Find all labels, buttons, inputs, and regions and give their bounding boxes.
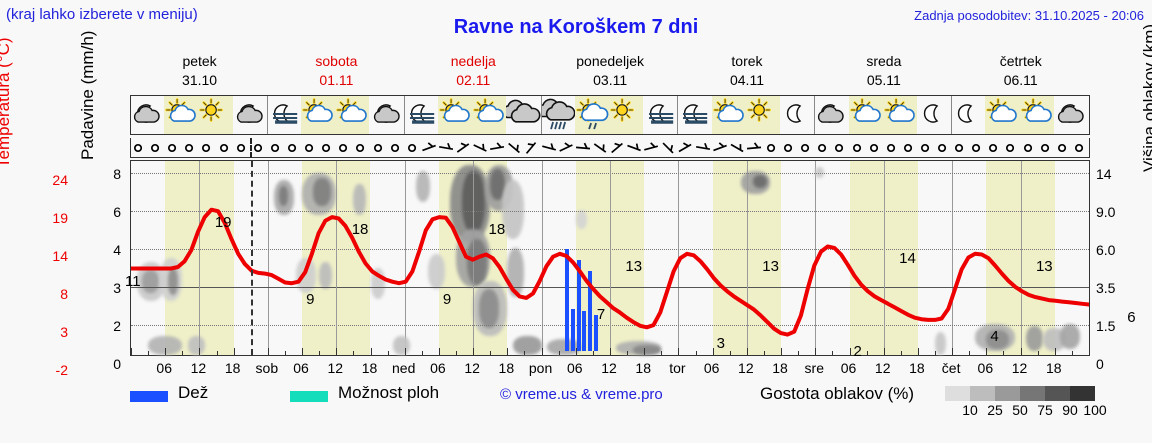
cloud-density-legend-title: Gostota oblakov (%) bbox=[760, 384, 914, 404]
calm-wind-circle bbox=[797, 138, 814, 158]
temperature-tick: 19 bbox=[36, 210, 68, 226]
showers-legend-swatch bbox=[290, 391, 328, 402]
cloud-height-tick: 3.5 bbox=[1096, 280, 1136, 296]
cloud-height-tick: 0 bbox=[1096, 356, 1136, 372]
day-header-2: sobota01.11 bbox=[268, 52, 405, 90]
cloud-density-tick-labels: 1025507590100 bbox=[935, 402, 1115, 420]
weather-icon-sun-cloud bbox=[712, 95, 746, 135]
calm-wind-circle bbox=[335, 138, 352, 158]
calm-wind-circle bbox=[849, 138, 866, 158]
temperature-tick: -2 bbox=[36, 362, 68, 378]
day-header-5: torek04.11 bbox=[678, 52, 815, 90]
x-axis-tick-labels: 061218sob061218ned061218pon061218tor0612… bbox=[130, 360, 1090, 380]
wind-barb-symbol bbox=[729, 138, 746, 158]
calm-wind-circle bbox=[814, 138, 831, 158]
calm-wind-circle bbox=[198, 138, 215, 158]
cloud-height-tick-labels: 149.06.03.51.50 bbox=[1096, 160, 1142, 370]
day-header-1: petek31.10 bbox=[131, 52, 268, 90]
temperature-tick-labels: 24191483-2 bbox=[36, 160, 76, 370]
calm-wind-circle bbox=[250, 138, 267, 158]
calm-wind-circle bbox=[883, 138, 900, 158]
copyright-label: © vreme.us & vreme.pro bbox=[500, 386, 663, 403]
calm-wind-circle bbox=[968, 138, 985, 158]
wind-barb-symbol bbox=[643, 138, 660, 158]
weather-icon-row bbox=[130, 95, 1090, 135]
weather-icon-sun-cloud bbox=[849, 95, 883, 135]
day-header-4: ponedeljek03.11 bbox=[542, 52, 679, 90]
calm-wind-circle bbox=[1037, 138, 1054, 158]
cloud-density-colorbar bbox=[945, 386, 1095, 401]
showers-legend-label: Možnost ploh bbox=[338, 383, 439, 403]
wind-barb-symbol bbox=[746, 138, 763, 158]
day-separator bbox=[677, 95, 678, 135]
weather-icon-sun-cloud bbox=[472, 95, 506, 135]
wind-barb-symbol bbox=[660, 138, 677, 158]
weather-icon-cloud bbox=[506, 95, 540, 135]
weather-icon-sun-cloud bbox=[335, 95, 369, 135]
temperature-axis-title: Temperatura (°C) bbox=[0, 0, 14, 168]
weather-icon-sun-cloud bbox=[883, 95, 917, 135]
x-tick-label: 18 bbox=[1034, 360, 1074, 376]
wind-barb-symbol bbox=[626, 138, 643, 158]
calm-wind-circle bbox=[900, 138, 917, 158]
calm-wind-circle bbox=[831, 138, 848, 158]
cloud-density-swatch bbox=[945, 386, 970, 401]
precipitation-tick: 8 bbox=[103, 166, 121, 182]
precipitation-tick: 6 bbox=[103, 204, 121, 220]
precipitation-tick: 2 bbox=[103, 318, 121, 334]
calm-wind-circle bbox=[181, 138, 198, 158]
current-time-marker bbox=[250, 138, 252, 158]
day-name: ponedeljek bbox=[542, 52, 679, 71]
calm-wind-circle bbox=[1071, 138, 1088, 158]
day-name: torek bbox=[678, 52, 815, 71]
wind-barb-symbol bbox=[592, 138, 609, 158]
precipitation-tick: 0 bbox=[103, 356, 121, 372]
weather-icon-moon bbox=[917, 95, 951, 135]
day-date: 01.11 bbox=[268, 71, 405, 90]
day-name: sobota bbox=[268, 52, 405, 71]
day-date: 31.10 bbox=[131, 71, 268, 90]
last-update-label: Zadnja posodobitev: 31.10.2025 - 20:06 bbox=[914, 8, 1144, 23]
weather-icon-sun bbox=[746, 95, 780, 135]
cloud-density-swatch bbox=[1045, 386, 1070, 401]
calm-wind-circle bbox=[1002, 138, 1019, 158]
calm-wind-circle bbox=[216, 138, 233, 158]
calm-wind-circle bbox=[318, 138, 335, 158]
weather-icon-moon-cloud bbox=[130, 95, 164, 135]
weather-icon-sun-cloud bbox=[985, 95, 1019, 135]
rain-legend-swatch bbox=[130, 391, 168, 402]
forecast-chart[interactable]: 11199189187133132144136 bbox=[130, 160, 1090, 356]
precipitation-tick: 3 bbox=[103, 280, 121, 296]
day-name: sreda bbox=[815, 52, 952, 71]
calm-wind-circle bbox=[370, 138, 387, 158]
calm-wind-circle bbox=[763, 138, 780, 158]
weather-icon-sun-cloud bbox=[1020, 95, 1054, 135]
day-separator bbox=[404, 95, 405, 135]
weather-icon-moon-cloud bbox=[814, 95, 848, 135]
calm-wind-circle bbox=[866, 138, 883, 158]
calm-wind-circle bbox=[267, 138, 284, 158]
wind-barb-symbol bbox=[575, 138, 592, 158]
weather-icon-moon-cloud bbox=[1054, 95, 1088, 135]
weather-icon-moon-wind bbox=[404, 95, 438, 135]
rain-legend-label: Dež bbox=[178, 383, 208, 403]
temperature-label: 6 bbox=[1127, 309, 1135, 326]
day-header-6: sreda05.11 bbox=[815, 52, 952, 90]
cloud-density-swatch bbox=[995, 386, 1020, 401]
calm-wind-circle bbox=[233, 138, 250, 158]
precipitation-tick: 4 bbox=[103, 242, 121, 258]
day-header-3: nedelja02.11 bbox=[405, 52, 542, 90]
day-separator bbox=[267, 95, 268, 135]
cloud-height-tick: 6.0 bbox=[1096, 242, 1136, 258]
wind-barb-symbol bbox=[695, 138, 712, 158]
wind-barb-symbol bbox=[541, 138, 558, 158]
day-name: petek bbox=[131, 52, 268, 71]
weather-icon-moon-wind bbox=[677, 95, 711, 135]
wind-barb-symbol bbox=[677, 138, 694, 158]
day-date: 06.11 bbox=[952, 71, 1089, 90]
day-date: 05.11 bbox=[815, 71, 952, 90]
temperature-tick: 3 bbox=[36, 324, 68, 340]
precipitation-axis-title: Padavine (mm/h) bbox=[78, 0, 98, 160]
day-separator bbox=[541, 95, 542, 135]
weather-icon-sun-cloud bbox=[301, 95, 335, 135]
x-axis-tick bbox=[1089, 348, 1090, 355]
wind-barb-symbol bbox=[506, 138, 523, 158]
weather-icon-moon bbox=[951, 95, 985, 135]
chart-legend: Dež Možnost ploh © vreme.us & vreme.pro … bbox=[130, 386, 1140, 426]
calm-wind-circle bbox=[951, 138, 968, 158]
weather-icon-sun-cloud-rain bbox=[575, 95, 609, 135]
wind-barb-symbol bbox=[523, 138, 540, 158]
calm-wind-circle bbox=[934, 138, 951, 158]
day-date: 02.11 bbox=[405, 71, 542, 90]
day-header-7: četrtek06.11 bbox=[952, 52, 1089, 90]
temperature-tick: 8 bbox=[36, 286, 68, 302]
day-date: 03.11 bbox=[542, 71, 679, 90]
day-name: nedelja bbox=[405, 52, 542, 71]
calm-wind-circle bbox=[985, 138, 1002, 158]
calm-wind-circle bbox=[1020, 138, 1037, 158]
weather-icon-moon-wind bbox=[643, 95, 677, 135]
day-separator bbox=[814, 95, 815, 135]
weather-icon-sun-cloud bbox=[438, 95, 472, 135]
calm-wind-circle bbox=[147, 138, 164, 158]
wind-barb-symbol bbox=[609, 138, 626, 158]
calm-wind-circle bbox=[1054, 138, 1071, 158]
calm-wind-circle bbox=[352, 138, 369, 158]
temperature-tick: 14 bbox=[36, 248, 68, 264]
weather-icon-sun bbox=[609, 95, 643, 135]
precipitation-tick-labels: 864320 bbox=[103, 160, 125, 370]
wind-barb-symbol bbox=[558, 138, 575, 158]
day-name: četrtek bbox=[952, 52, 1089, 71]
cloud-density-tick: 100 bbox=[1080, 402, 1110, 418]
current-time-marker bbox=[131, 161, 1089, 355]
wind-barb-symbol bbox=[421, 138, 438, 158]
calm-wind-circle bbox=[917, 138, 934, 158]
calm-wind-circle bbox=[130, 138, 147, 158]
day-separator bbox=[951, 95, 952, 135]
calm-wind-circle bbox=[387, 138, 404, 158]
day-date: 04.11 bbox=[678, 71, 815, 90]
current-time-marker bbox=[251, 161, 253, 355]
weather-icon-moon-cloud bbox=[233, 95, 267, 135]
weather-icon-sun-cloud bbox=[164, 95, 198, 135]
weather-icon-moon-wind bbox=[267, 95, 301, 135]
cloud-density-swatch bbox=[1020, 386, 1045, 401]
weather-icon-sun bbox=[198, 95, 232, 135]
wind-barb-symbol bbox=[455, 138, 472, 158]
weather-icon-cloud-rain bbox=[541, 95, 575, 135]
calm-wind-circle bbox=[404, 138, 421, 158]
wind-barb-symbol bbox=[438, 138, 455, 158]
wind-barb-symbol bbox=[472, 138, 489, 158]
calm-wind-circle bbox=[164, 138, 181, 158]
weather-icon-moon-cloud bbox=[370, 95, 404, 135]
wind-barb-symbol bbox=[712, 138, 729, 158]
calm-wind-circle bbox=[301, 138, 318, 158]
wind-symbol-row bbox=[130, 138, 1090, 158]
day-headers: petek31.10sobota01.11nedelja02.11ponedel… bbox=[130, 52, 1090, 92]
temperature-tick: 24 bbox=[36, 172, 68, 188]
calm-wind-circle bbox=[284, 138, 301, 158]
cloud-density-swatch bbox=[1070, 386, 1095, 401]
calm-wind-circle bbox=[780, 138, 797, 158]
cloud-height-tick: 9.0 bbox=[1096, 204, 1136, 220]
cloud-density-swatch bbox=[970, 386, 995, 401]
cloud-height-tick: 14 bbox=[1096, 166, 1136, 182]
weather-icon-moon bbox=[780, 95, 814, 135]
cloud-height-axis-title: Višina oblakov (km) bbox=[1140, 0, 1152, 172]
wind-barb-symbol bbox=[489, 138, 506, 158]
